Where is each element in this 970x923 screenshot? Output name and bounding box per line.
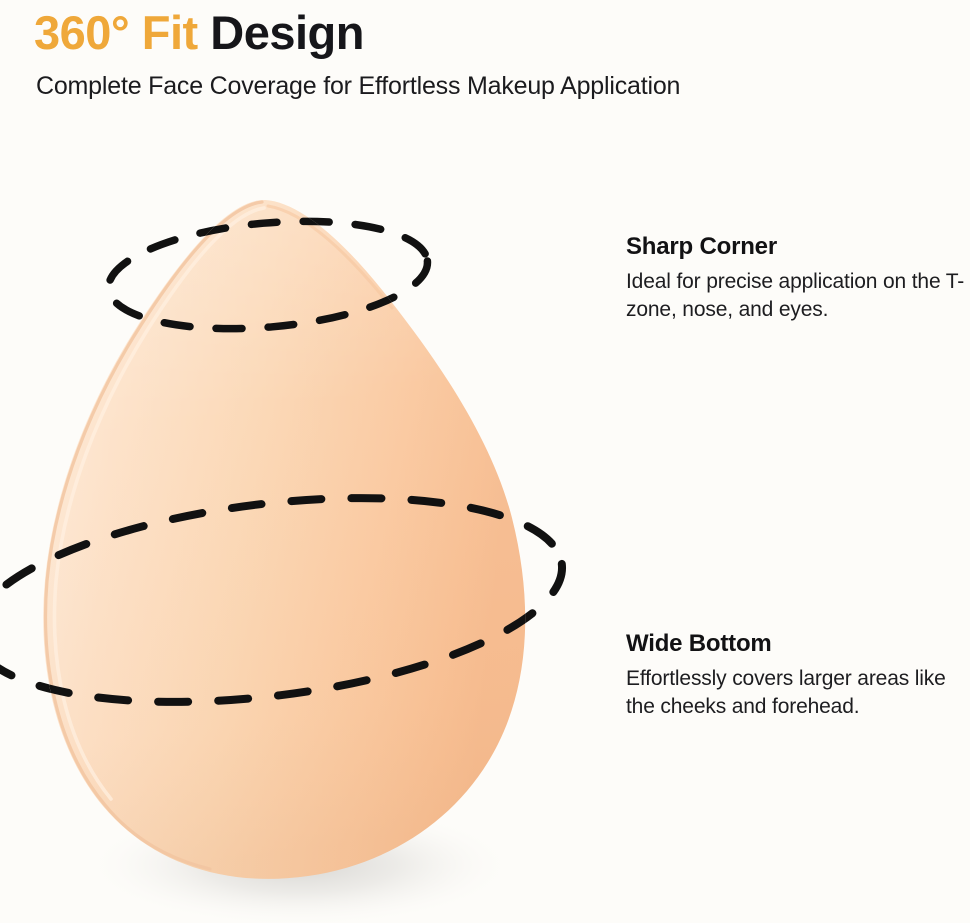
callout-sharp-corner-title: Sharp Corner xyxy=(626,232,970,262)
page-title-rest: Design xyxy=(198,6,364,59)
callout-wide-bottom: Wide Bottom Effortlessly covers larger a… xyxy=(626,629,970,721)
callout-sharp-corner: Sharp Corner Ideal for precise applicati… xyxy=(626,232,970,324)
header: 360° Fit Design Complete Face Coverage f… xyxy=(34,4,934,102)
callout-wide-bottom-body: Effortlessly covers larger areas like th… xyxy=(626,665,970,721)
page-subtitle: Complete Face Coverage for Effortless Ma… xyxy=(36,70,934,102)
page-title-accent: 360° Fit xyxy=(34,6,198,59)
callout-sharp-corner-body: Ideal for precise application on the T-z… xyxy=(626,268,970,324)
page-title: 360° Fit Design xyxy=(34,4,934,62)
infographic-root: 360° Fit Design Complete Face Coverage f… xyxy=(0,0,970,923)
callout-wide-bottom-title: Wide Bottom xyxy=(626,629,970,659)
sponge-illustration xyxy=(0,150,620,923)
